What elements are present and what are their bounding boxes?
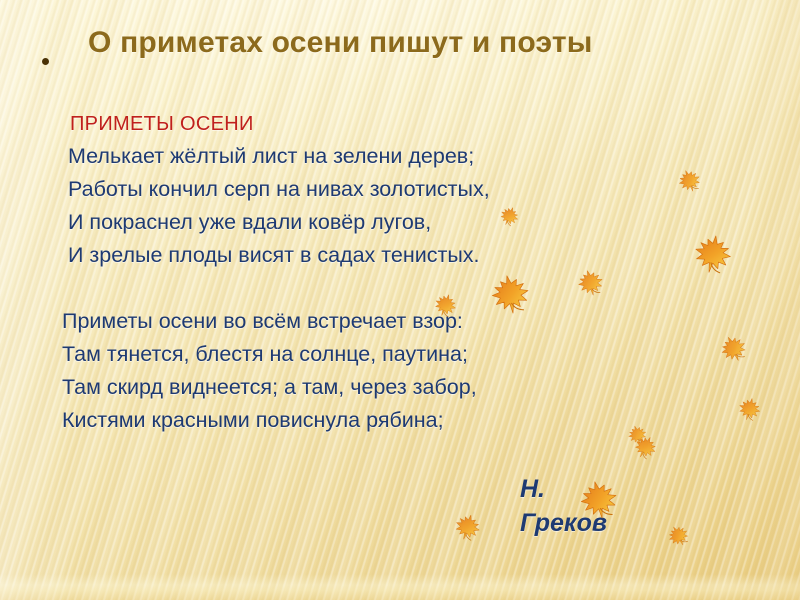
poem-line: И покраснел уже вдали ковёр лугов,: [68, 206, 722, 239]
slide-canvas: О приметах осени пишут и поэты ПРИМЕТЫ О…: [0, 0, 800, 600]
poem-line: Там тянется, блестя на солнце, паутина;: [62, 338, 722, 371]
maple-leaf-icon: [448, 508, 486, 546]
poem-heading: ПРИМЕТЫ ОСЕНИ: [70, 113, 722, 136]
poem-author: Н. Греков: [520, 472, 700, 540]
poem-author-initial: Н.: [520, 472, 700, 506]
poem-stanza-two: Приметы осени во всём встречает взор: Та…: [62, 305, 722, 437]
poem-line: И зрелые плоды висят в садах тенистых.: [68, 239, 722, 272]
slide-content: О приметах осени пишут и поэты ПРИМЕТЫ О…: [0, 0, 800, 600]
page-title: О приметах осени пишут и поэты: [70, 24, 690, 62]
maple-leaf-icon: [733, 393, 765, 425]
poem-stanza-one: Мелькает жёлтый лист на зелени дерев; Ра…: [68, 140, 722, 272]
poem-block: ПРИМЕТЫ ОСЕНИ Мелькает жёлтый лист на зе…: [62, 113, 722, 437]
poem-line: Там скирд виднеется; а там, через забор,: [62, 371, 722, 404]
poem-author-surname: Греков: [520, 506, 700, 540]
poem-line: Работы кончил серп на нивах золотистых,: [68, 173, 722, 206]
poem-line: Мелькает жёлтый лист на зелени дерев;: [68, 140, 722, 173]
bullet-dot-icon: [42, 58, 49, 65]
poem-line: Кистями красными повиснула рябина;: [62, 404, 722, 437]
poem-line: Приметы осени во всём встречает взор:: [62, 305, 722, 338]
